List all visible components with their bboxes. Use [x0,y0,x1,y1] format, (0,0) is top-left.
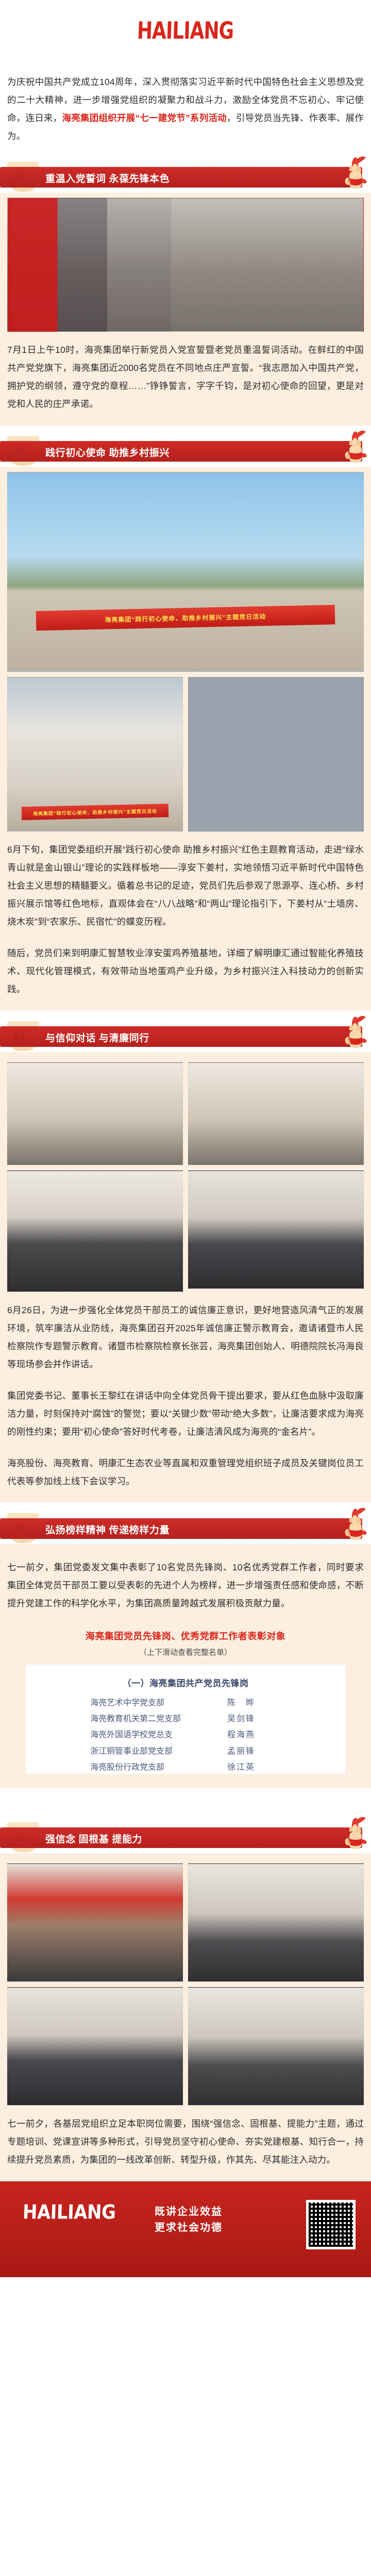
paragraph: 6月下旬，集团党委组织开展“践行初心使命 助推乡村振兴”红色主题教育活动，走进“… [7,841,364,931]
paragraph: 7月1日上午10时，海亮集团举行新党员入党宣誓暨老党员重温誓词活动。在鲜红的中国… [7,341,364,413]
photo-pair-02: 海亮集团“践行初心使命、助推乡村振兴”主题党日活动 [7,677,364,832]
qr-code[interactable] [306,2200,356,2249]
intro-highlight: 海亮集团组织开展“七一建党节”系列活动 [62,113,227,123]
honor-roll-scrollbox[interactable]: （一）海亮集团共产党员先锋岗 海亮艺术中学党支部 陈 晔 海亮教育机关第二党支部… [26,1665,345,1774]
honor-org: 海亮股份行政党支部 [90,1759,219,1774]
section-header-05: 05 强信念 固根基 提能力 [0,1821,371,1853]
section-number-04: 04 [14,1523,25,1535]
photo-group-banner: 海亮集团“践行初心使命、助推乡村振兴”主题党日活动 [7,472,364,672]
photo-training-session [7,1987,183,2106]
section-title-02: 践行初心使命 助推乡村振兴 [45,445,170,459]
paragraph: 七一前夕，各基层党组织立足本职岗位需要，围绕“强信念、固根基、提能力”主题，通过… [7,2115,364,2169]
page-footer: HAILIANG 既讲企业效益 更求社会功德 [0,2181,371,2277]
photo-speaker-left [7,1062,183,1165]
section-header-01: 01 重温入党誓词 永葆先锋本色 [0,161,371,193]
honor-name: 徐江英 [219,1759,281,1774]
hand-flag-icon [337,1505,369,1544]
brand-header: HAILIANG [0,0,371,62]
honor-roll-title: 海亮集团党员先锋岗、优秀党群工作者表彰对象 [0,1624,371,1642]
hailiang-logo: HAILIANG [137,18,234,45]
intro-paragraph: 为庆祝中国共产党成立104周年，深入贯彻落实习近平新时代中国特色社会主义思想及党… [0,62,371,159]
section-body-01: 7月1日上午10时，海亮集团举行新党员入党宣誓暨老党员重温誓词活动。在鲜红的中国… [0,193,371,426]
honor-org: 海亮艺术中学党支部 [90,1695,219,1711]
photo-speaker-right [188,1062,364,1165]
paragraph: 七一前夕，集团党委发文集中表彰了10名党员先锋岗、10名优秀党群工作者，同时要求… [7,1558,364,1613]
section-header-04: 04 弘扬榜样精神 传递榜样力量 [0,1512,371,1544]
photo-pair-05b [7,1987,364,2106]
section-header-03: 03 与信仰对话 与清廉同行 [0,1020,371,1052]
section-number-03: 03 [14,1031,25,1043]
honor-row: 海亮外国语学校党总支 程海燕 [26,1727,345,1743]
honor-roll-group-title: （一）海亮集团共产党员先锋岗 [26,1676,345,1695]
honor-row: 海亮股份行政党支部 徐江英 [26,1759,345,1774]
section-body-03: 6月26日，为进一步强化全体党员干部员工的诚信廉正意识，更好地营造风清气正的发展… [0,1052,371,1503]
section-05-text: 七一前夕，各基层党组织立足本职岗位需要，围绕“强信念、固根基、提能力”主题，通过… [0,2106,371,2180]
photo-banner-text: 海亮集团“践行初心使命、助推乡村振兴”主题党日活动 [36,605,335,631]
section-01-text: 7月1日上午10时，海亮集团举行新党员入党宣誓暨老党员重温誓词活动。在鲜红的中国… [0,332,371,425]
footer-slogan-line1: 既讲企业效益 [155,2204,223,2220]
section-number-02: 02 [14,446,25,457]
section-02-text: 6月下旬，集团党委组织开展“践行初心使命 助推乡村振兴”红色主题教育活动，走进“… [0,832,371,1010]
photo-banner-text: 海亮集团“践行初心使命、助推乡村振兴”主题党日活动 [22,804,168,820]
photo-party-flag-meeting [7,1863,183,1982]
section-header-02: 02 践行初心使命 助推乡村振兴 [0,435,371,467]
hand-flag-icon [337,154,369,193]
footer-slogan: 既讲企业效益 更求社会功德 [155,2204,223,2236]
photo-pair-03a [7,1062,364,1165]
section-title-04: 弘扬榜样精神 传递榜样力量 [45,1522,170,1536]
honor-name: 程海燕 [219,1727,281,1743]
section-body-04: 七一前夕，集团党委发文集中表彰了10名党员先锋岗、10名优秀党群工作者，同时要求… [0,1544,371,1788]
photo-lecture-room [188,1863,364,1982]
paragraph: 随后，党员们来到明康汇智慧牧业淳安蛋鸡养殖基地，详细了解明康汇通过智能化养殖技术… [7,944,364,998]
photo-audience-hall [7,1171,183,1292]
footer-hailiang-logo: HAILIANG [22,2201,116,2224]
section-number-01: 01 [14,172,25,183]
photo-presentation-screen [188,1171,364,1289]
section-04-text: 七一前夕，集团党委发文集中表彰了10名党员先锋岗、10名优秀党群工作者，同时要求… [0,1549,371,1624]
hand-flag-icon [337,1814,369,1853]
photo-pair-03b [7,1171,364,1292]
paragraph: 海亮股份、海亮教育、明康汇生态农业等直属和双重管理党组织班子成员及关键岗位员工代… [7,1454,364,1490]
section-body-02: 海亮集团“践行初心使命、助推乡村振兴”主题党日活动 海亮集团“践行初心使命、助推… [0,467,371,1011]
honor-row: 海亮艺术中学党支部 陈 晔 [26,1695,345,1711]
honor-name: 吴剑锋 [219,1711,281,1727]
honor-org: 浙江铜管事业部党支部 [90,1743,219,1759]
section-03-text: 6月26日，为进一步强化全体党员干部员工的诚信廉正意识，更好地营造风清气正的发展… [0,1292,371,1502]
qr-code-pattern [309,2202,353,2247]
honor-org: 海亮教育机关第二党支部 [90,1711,219,1727]
honor-org: 海亮外国语学校党总支 [90,1727,219,1743]
photo-pair-05a [7,1863,364,1982]
section-title-05: 强信念 固根基 提能力 [45,1832,142,1845]
photo-village: 海亮集团“践行初心使命、助推乡村振兴”主题党日活动 [7,677,183,832]
section-body-05: 七一前夕，各基层党组织立足本职岗位需要，围绕“强信念、固根基、提能力”主题，通过… [0,1853,371,2181]
photo-group-study [188,1987,364,2106]
honor-roll-subtitle: （上下滑动查看完整名单） [0,1642,371,1665]
honor-row: 海亮教育机关第二党支部 吴剑锋 [26,1711,345,1727]
section-title-01: 重温入党誓词 永葆先锋本色 [45,171,170,185]
section-number-05: 05 [14,1833,25,1844]
paragraph: 6月26日，为进一步强化全体党员干部员工的诚信廉正意识，更好地营造风清气正的发展… [7,1301,364,1374]
honor-row: 浙江铜管事业部党支部 孟丽锋 [26,1743,345,1759]
honor-name: 孟丽锋 [219,1743,281,1759]
section-title-03: 与信仰对话 与清廉同行 [45,1030,149,1044]
honor-name: 陈 晔 [219,1695,281,1711]
hand-flag-icon [337,428,369,467]
photo-oath-ceremony [7,198,364,332]
hand-flag-icon [337,1013,369,1052]
photo-exhibition-hall [188,677,364,832]
article-page: HAILIANG 为庆祝中国共产党成立104周年，深入贯彻落实习近平新时代中国特… [0,0,371,2277]
paragraph: 集团党委书记、董事长王黎红在讲话中向全体党员骨干提出要求，要从红色血脉中汲取廉洁… [7,1387,364,1441]
footer-slogan-line2: 更求社会功德 [155,2220,223,2236]
